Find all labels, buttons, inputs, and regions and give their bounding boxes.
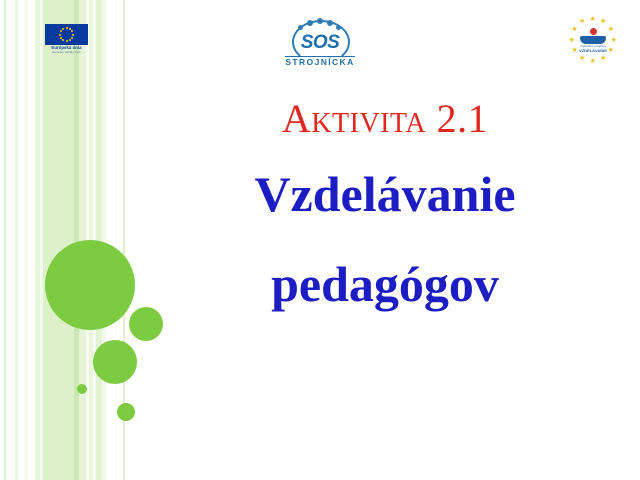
decorative-stripe [4,0,6,480]
programme-star-icon: ★ [579,55,585,62]
logo-bar: Európska únia Európsky sociálny fond SOS… [0,0,640,72]
programme-star-icon: ★ [590,16,596,23]
decorative-circle [45,240,135,330]
decorative-stripe [74,0,79,480]
eu-star-icon [60,30,62,32]
programme-star-icon: ★ [608,26,614,33]
decorative-stripe [18,0,24,480]
eu-star-icon [62,39,64,41]
activity-title-number: 2.1 [437,96,489,141]
decorative-circle [117,403,135,421]
programme-logo-emblem: Operačný program VZDELÁVANIE [578,28,608,52]
programme-star-icon: ★ [600,55,606,62]
programme-logo-book-icon [580,36,606,44]
decorative-stripe [106,0,115,480]
decorative-stripe [28,0,35,480]
decorative-stripe [15,0,18,480]
programme-logo: Operačný program VZDELÁVANIE ★★★★★★★★★★★… [566,17,620,63]
programme-star-icon: ★ [569,37,575,44]
decorative-circle [77,384,87,394]
eu-star-icon [71,37,73,39]
headline-block: Aktivita 2.1 Vzdelávanie pedagógov [150,96,620,322]
eu-star-icon [59,34,61,36]
eu-star-icon [62,28,64,30]
eu-star-icon [72,34,74,36]
eu-logo-subtitle: Európsky sociálny fond [45,51,88,55]
subtitle-line-2: pedagógov [150,246,620,322]
eu-star-icon [69,39,71,41]
sos-dot-icon [307,20,313,26]
eu-flag-icon [45,24,88,45]
school-logo: SOS STROJNÍCKA [268,18,372,70]
programme-logo-line2: VZDELÁVANIE [578,48,608,53]
programme-star-icon: ★ [571,47,577,54]
programme-star-icon: ★ [611,37,617,44]
programme-star-icon: ★ [608,47,614,54]
eu-star-icon [66,40,68,42]
decorative-stripe [43,0,74,480]
decorative-stripe [40,0,43,480]
sos-dot-icon [327,20,333,26]
eu-star-icon [66,27,68,29]
decorative-circle [93,340,137,384]
decorative-stripe [35,0,40,480]
programme-star-icon: ★ [571,26,577,33]
programme-star-icon: ★ [600,18,606,25]
activity-title: Aktivita 2.1 [150,96,620,142]
programme-star-icon: ★ [579,18,585,25]
decorative-stripe [102,0,106,480]
decorative-stripe [10,0,15,480]
decorative-stripe [24,0,28,480]
school-logo-name: SOS [268,33,372,52]
eu-flag-logo: Európska únia Európsky sociálny fond [45,24,88,55]
programme-star-icon: ★ [590,58,596,65]
sos-dot-icon [336,25,341,30]
slide-canvas: Európska únia Európsky sociálny fond SOS… [0,0,640,480]
sos-dot-icon [298,25,303,30]
activity-title-word: Aktivita [282,96,426,141]
eu-star-icon [71,30,73,32]
decorative-stripes [0,0,130,480]
programme-logo-dot-icon [590,28,597,35]
eu-star-icon [60,37,62,39]
subtitle-line-1: Vzdelávanie [150,156,620,232]
